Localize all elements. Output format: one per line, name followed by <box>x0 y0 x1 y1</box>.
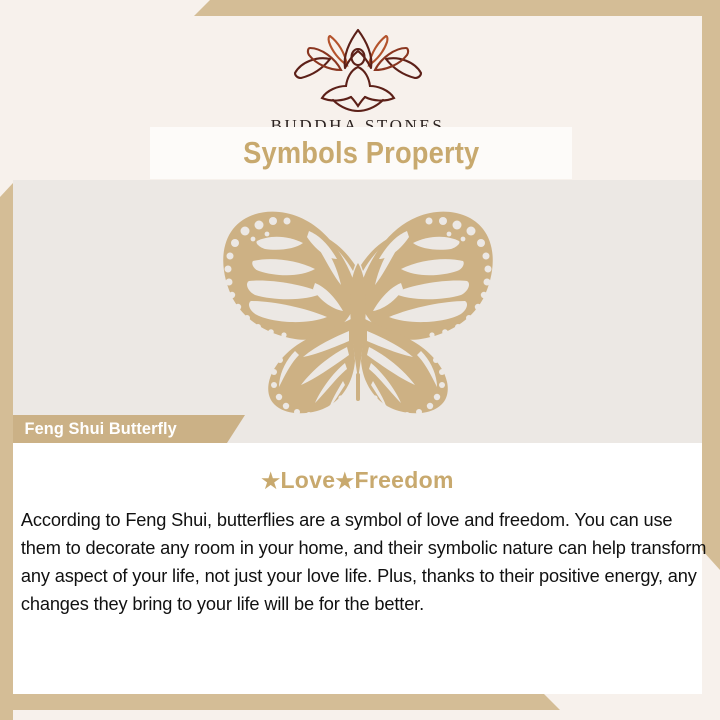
star-icon-left: ★ <box>261 470 280 493</box>
content-card: BUDDHA STONES Symbols Property <box>13 16 702 694</box>
feature-label-text: Feng Shui Butterfly <box>13 419 177 439</box>
description-heading: ★Love★Freedom <box>13 467 702 494</box>
description-heading-freedom: Freedom <box>354 467 453 493</box>
description-panel: ★Love★Freedom According to Feng Shui, bu… <box>13 443 702 694</box>
decorative-frame-top <box>0 0 720 16</box>
star-icon-mid: ★ <box>335 470 354 493</box>
description-heading-love: Love <box>280 467 335 493</box>
decorative-frame-left <box>0 183 13 720</box>
feature-label-banner: Feng Shui Butterfly <box>13 415 245 443</box>
monarch-butterfly-illustration <box>203 201 513 423</box>
brand-header: BUDDHA STONES <box>13 26 702 136</box>
feature-image-panel <box>13 180 702 443</box>
page-title: Symbols Property <box>243 135 479 171</box>
description-body: According to Feng Shui, butterflies are … <box>13 506 710 618</box>
decorative-frame-right <box>702 10 720 570</box>
lotus-meditation-icon <box>13 26 702 114</box>
promo-infographic: BUDDHA STONES Symbols Property <box>0 0 720 720</box>
title-band: Symbols Property <box>150 127 572 179</box>
